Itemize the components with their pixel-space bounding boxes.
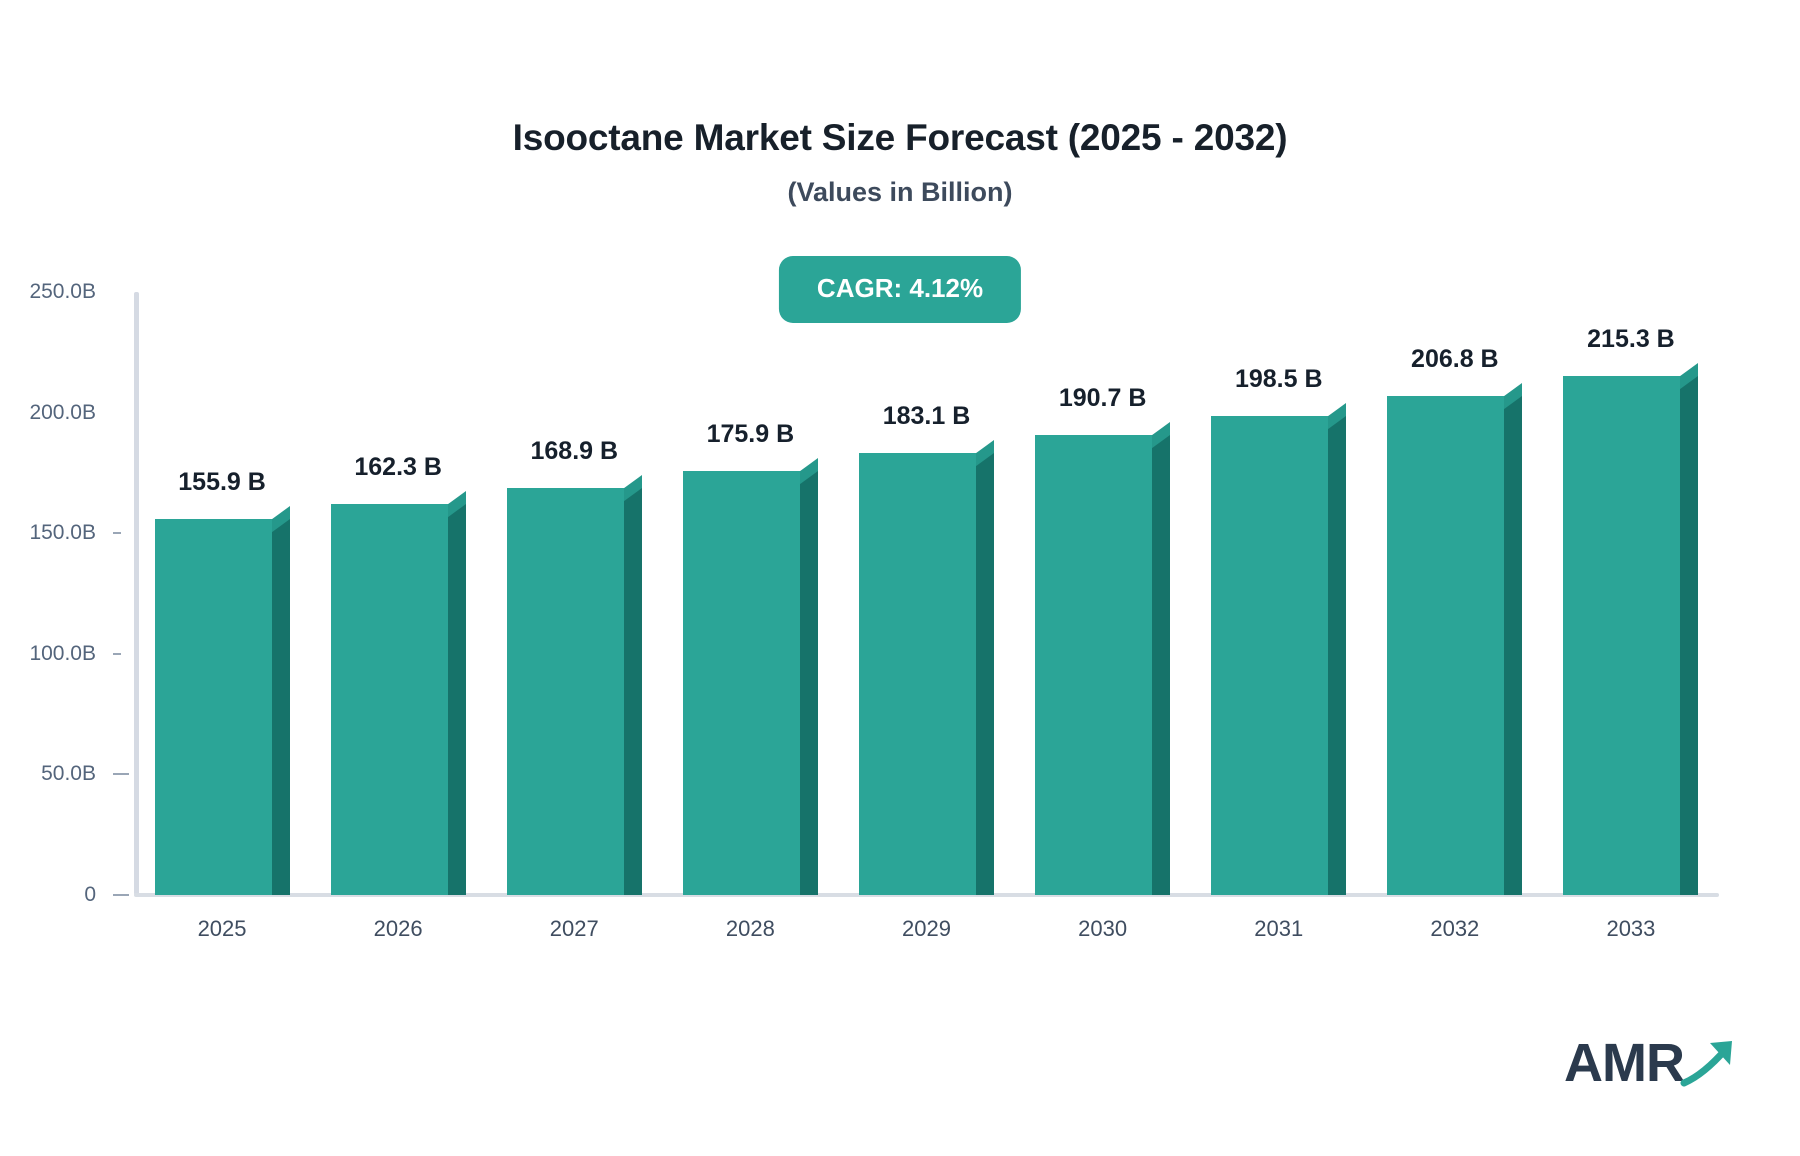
- y-axis-tick-mark: [113, 773, 129, 775]
- y-axis-tick-label: 150.0B: [0, 521, 96, 545]
- bar-value-label: 206.8 B: [1411, 345, 1499, 374]
- x-axis-tick-label: 2032: [1430, 916, 1479, 942]
- x-axis-tick-label: 2031: [1254, 916, 1303, 942]
- bar: 215.3 B: [1563, 376, 1698, 895]
- y-axis-tick-mark: [113, 653, 121, 655]
- bar-face: [683, 471, 818, 895]
- bar: 190.7 B: [1035, 435, 1170, 895]
- bar: 198.5 B: [1211, 416, 1346, 895]
- bar: 183.1 B: [859, 453, 994, 895]
- bar-face: [1387, 396, 1522, 895]
- chart-subtitle: (Values in Billion): [0, 178, 1800, 208]
- bar-face: [1211, 416, 1346, 895]
- bar-side-shadow: [624, 488, 642, 895]
- arrow-up-right-icon: [1680, 1037, 1744, 1094]
- x-axis-tick-label: 2026: [374, 916, 423, 942]
- bar-value-label: 198.5 B: [1235, 365, 1323, 394]
- bar: 162.3 B: [331, 504, 466, 895]
- x-axis-tick-label: 2025: [198, 916, 247, 942]
- bar-side-shadow: [1152, 435, 1170, 895]
- bar-face: [331, 504, 466, 895]
- chart-figure: Isooctane Market Size Forecast (2025 - 2…: [0, 0, 1800, 1156]
- amr-logo: AMR: [1564, 1031, 1744, 1094]
- bar-value-label: 168.9 B: [530, 437, 618, 466]
- y-axis-tick-mark: [113, 894, 129, 896]
- bar-value-label: 215.3 B: [1587, 325, 1675, 354]
- bar: 206.8 B: [1387, 396, 1522, 895]
- bar-side-shadow: [1680, 376, 1698, 895]
- bar-value-label: 175.9 B: [707, 420, 795, 449]
- x-axis-tick-label: 2029: [902, 916, 951, 942]
- bar-value-label: 190.7 B: [1059, 384, 1147, 413]
- bar-side-shadow: [448, 504, 466, 895]
- y-axis-tick-label: 100.0B: [0, 642, 96, 666]
- bar-face: [1035, 435, 1170, 895]
- y-axis-tick-mark: [113, 532, 121, 534]
- bar: 155.9 B: [155, 519, 290, 895]
- bar-value-label: 162.3 B: [354, 453, 442, 482]
- y-axis-tick-label: 50.0B: [0, 762, 96, 786]
- bar-face: [859, 453, 994, 895]
- bars-container: 155.9 B162.3 B168.9 B175.9 B183.1 B190.7…: [134, 292, 1719, 895]
- y-axis-tick-label: 0: [0, 883, 96, 907]
- bar-value-label: 155.9 B: [178, 468, 266, 497]
- bar: 175.9 B: [683, 471, 818, 895]
- page-title: Isooctane Market Size Forecast (2025 - 2…: [0, 118, 1800, 159]
- bar: 168.9 B: [507, 488, 642, 895]
- bar-side-shadow: [1328, 416, 1346, 895]
- bar-side-shadow: [272, 519, 290, 895]
- y-axis-tick-label: 250.0B: [0, 280, 96, 304]
- bar-side-shadow: [976, 453, 994, 895]
- bar-side-shadow: [800, 471, 818, 895]
- bar-value-label: 183.1 B: [883, 402, 971, 431]
- x-axis-tick-label: 2033: [1606, 916, 1655, 942]
- bar-face: [155, 519, 290, 895]
- x-axis-tick-label: 2030: [1078, 916, 1127, 942]
- logo-text: AMR: [1564, 1036, 1684, 1090]
- x-axis-tick-label: 2027: [550, 916, 599, 942]
- x-axis-tick-label: 2028: [726, 916, 775, 942]
- bar-face: [507, 488, 642, 895]
- bar-face: [1563, 376, 1698, 895]
- bar-side-shadow: [1504, 396, 1522, 895]
- y-axis-tick-label: 200.0B: [0, 401, 96, 425]
